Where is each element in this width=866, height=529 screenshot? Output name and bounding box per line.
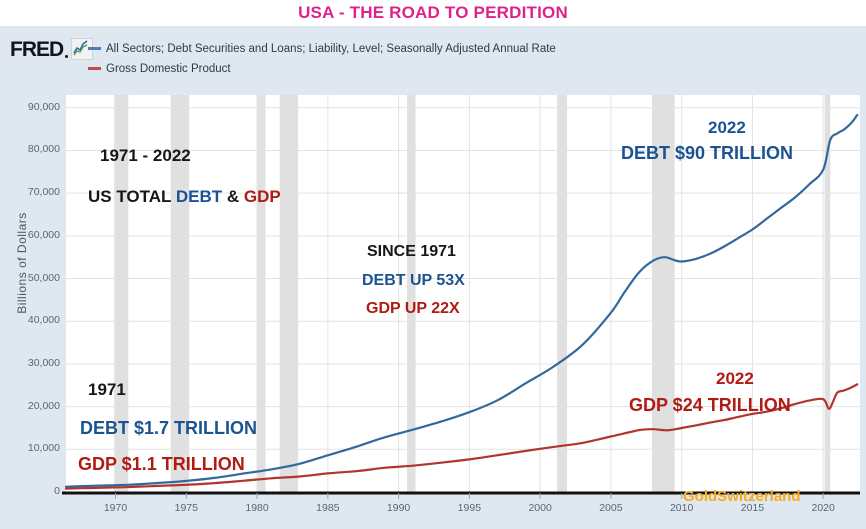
year-2022-debt-text: 2022 <box>708 118 746 137</box>
page-title: USA - THE ROAD TO PERDITION <box>298 3 568 23</box>
year-2022-debt: 2022 <box>708 118 746 138</box>
debt-multiple-text: DEBT UP 53X <box>362 272 465 289</box>
x-axis-tick-label: 2005 <box>586 502 636 514</box>
y-axis-tick-label: 10,000 <box>12 442 60 454</box>
year-1971-text: 1971 <box>88 380 126 399</box>
year-2022-gdp-text: 2022 <box>716 369 754 388</box>
subject-label-text: GDP <box>244 187 281 206</box>
fred-logo-text: FRED <box>10 39 63 60</box>
x-axis-tick-label: 1970 <box>91 502 141 514</box>
y-axis-tick-label: 30,000 <box>12 357 60 369</box>
period-label-text: 1971 - 2022 <box>100 146 191 165</box>
y-axis-tick-label: 40,000 <box>12 314 60 326</box>
debt-1971: DEBT $1.7 TRILLION <box>80 418 257 439</box>
x-axis-tick-label: 1995 <box>444 502 494 514</box>
y-axis-tick-label: 90,000 <box>12 101 60 113</box>
since-1971-note: SINCE 1971 <box>367 243 456 261</box>
y-axis-tick-label: 0 <box>12 485 60 497</box>
chart-page: USA - THE ROAD TO PERDITION FRED All Sec… <box>0 0 866 529</box>
fred-chart-panel: FRED All Sectors; Debt Securities and Lo… <box>0 26 866 529</box>
legend-swatch-debt <box>88 47 101 50</box>
year-1971: 1971 <box>88 380 126 400</box>
gdp-2022: GDP $24 TRILLION <box>629 395 791 416</box>
x-axis-tick-label: 1980 <box>232 502 282 514</box>
y-axis-tick-label: 50,000 <box>12 272 60 284</box>
since-1971-note-text: SINCE 1971 <box>367 243 456 260</box>
x-axis-tick-label: 1985 <box>303 502 353 514</box>
y-axis-tick-label: 60,000 <box>12 229 60 241</box>
legend-item-debt[interactable]: All Sectors; Debt Securities and Loans; … <box>88 40 556 57</box>
subject-label: US TOTAL DEBT & GDP <box>88 187 281 207</box>
subject-label-text: DEBT <box>176 187 222 206</box>
y-axis-tick-label: 80,000 <box>12 143 60 155</box>
legend-label-debt: All Sectors; Debt Securities and Loans; … <box>106 43 556 55</box>
debt-2022-text: DEBT $90 TRILLION <box>621 143 793 163</box>
gdp-1971: GDP $1.1 TRILLION <box>78 454 245 475</box>
gdp-2022-text: GDP $24 TRILLION <box>629 395 791 415</box>
legend-label-gdp: Gross Domestic Product <box>106 63 231 75</box>
chart-legend: All Sectors; Debt Securities and Loans; … <box>88 40 556 80</box>
period-label: 1971 - 2022 <box>100 146 191 166</box>
gdp-multiple-text: GDP UP 22X <box>366 300 460 317</box>
legend-swatch-gdp <box>88 67 101 70</box>
x-axis-tick-label: 1990 <box>374 502 424 514</box>
x-axis-tick-label: 2000 <box>515 502 565 514</box>
recession-band <box>407 95 415 492</box>
subject-label-text: & <box>222 187 244 206</box>
fred-logo-dot <box>65 55 68 58</box>
y-axis-tick-label: 20,000 <box>12 400 60 412</box>
debt-1971-text: DEBT $1.7 TRILLION <box>80 418 257 438</box>
debt-2022: DEBT $90 TRILLION <box>621 143 793 164</box>
recession-band <box>257 95 265 492</box>
gdp-multiple: GDP UP 22X <box>366 300 460 318</box>
watermark: GoldSwitzerland <box>683 488 801 505</box>
gdp-1971-text: GDP $1.1 TRILLION <box>78 454 245 474</box>
page-title-bar: USA - THE ROAD TO PERDITION <box>0 0 866 26</box>
subject-label-text: US TOTAL <box>88 187 176 206</box>
legend-item-gdp[interactable]: Gross Domestic Product <box>88 60 556 77</box>
recession-band <box>557 95 567 492</box>
fred-logo: FRED <box>10 38 93 60</box>
recession-band <box>280 95 298 492</box>
x-axis-tick-label: 1975 <box>161 502 211 514</box>
watermark-text: GoldSwitzerland <box>683 488 801 505</box>
y-axis-tick-label: 70,000 <box>12 186 60 198</box>
year-2022-gdp: 2022 <box>716 369 754 389</box>
x-axis-tick-label: 2020 <box>798 502 848 514</box>
debt-multiple: DEBT UP 53X <box>362 272 465 290</box>
